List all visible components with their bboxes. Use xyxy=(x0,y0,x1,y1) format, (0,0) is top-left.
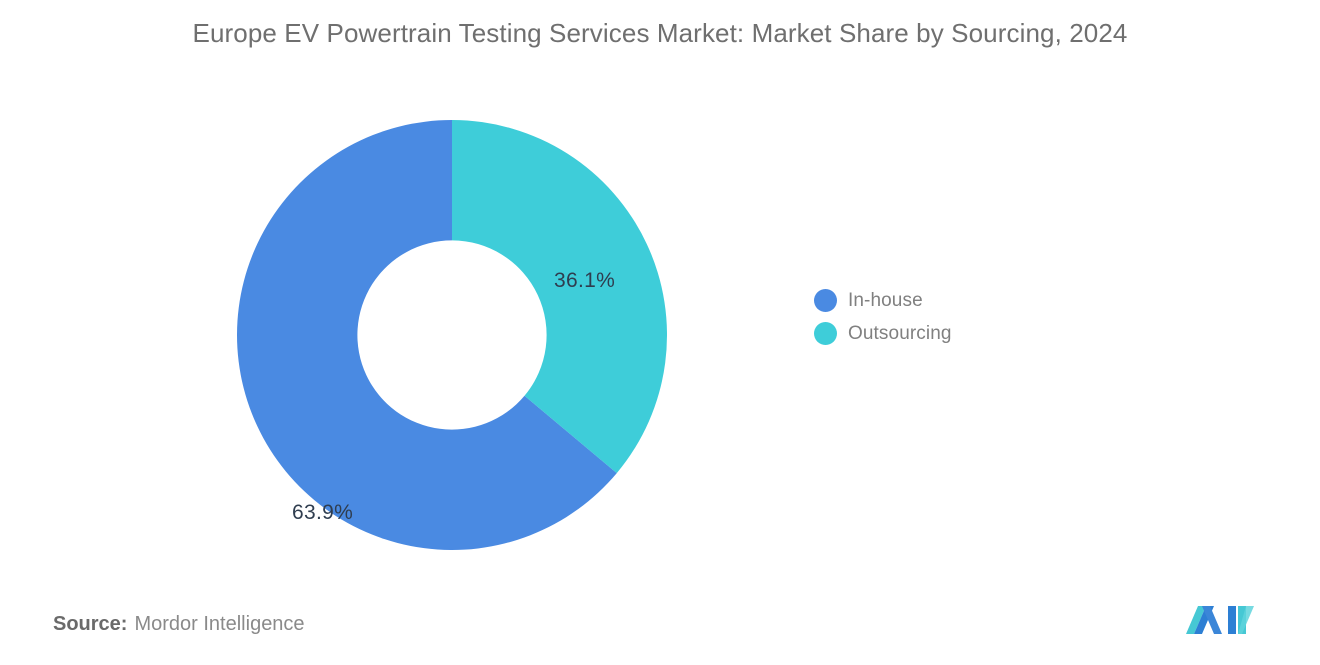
donut-chart-svg xyxy=(237,120,667,550)
source-value: Mordor Intelligence xyxy=(134,613,304,635)
donut-chart: 63.9% 36.1% xyxy=(237,120,667,550)
data-label-in-house: 63.9% xyxy=(292,501,353,525)
chart-legend: In-house Outsourcing xyxy=(814,284,952,350)
page-title: Europe EV Powertrain Testing Services Ma… xyxy=(160,14,1160,53)
legend-swatch-in-house-icon xyxy=(814,289,837,312)
legend-label-in-house: In-house xyxy=(848,290,923,312)
donut-slice-outsourcing[interactable] xyxy=(452,120,667,473)
logo-svg xyxy=(1186,600,1254,640)
source-label: Source: xyxy=(53,613,127,635)
legend-label-outsourcing: Outsourcing xyxy=(848,323,952,345)
legend-swatch-outsourcing-icon xyxy=(814,322,837,345)
mordor-intelligence-logo-icon xyxy=(1186,600,1254,640)
legend-item-outsourcing[interactable]: Outsourcing xyxy=(814,317,952,350)
legend-item-in-house[interactable]: In-house xyxy=(814,284,952,317)
data-label-outsourcing: 36.1% xyxy=(554,269,615,293)
source-attribution: Source:Mordor Intelligence xyxy=(53,613,305,636)
